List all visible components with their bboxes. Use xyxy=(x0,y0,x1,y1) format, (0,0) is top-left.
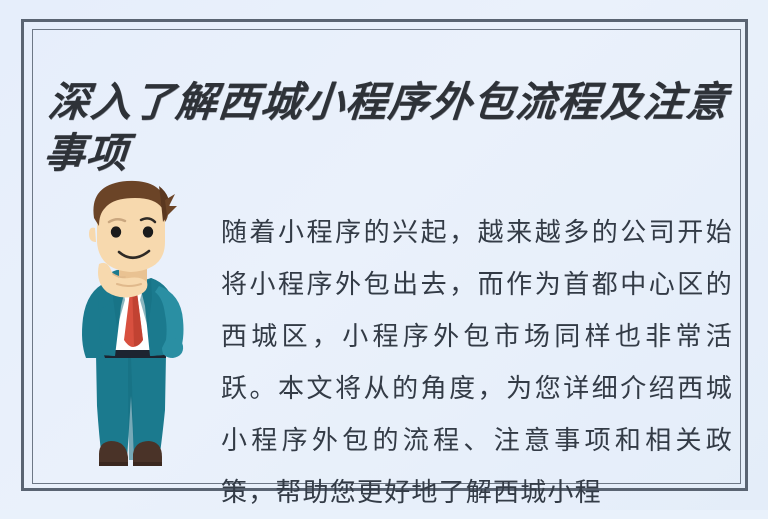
article-body: 随着小程序的兴起，越来越多的公司开始将小程序外包出去，而作为首都中心区的西城区，… xyxy=(221,207,733,519)
page-title: 深入了解西城小程序外包流程及注意事项 xyxy=(42,77,741,179)
thinking-businessman-illustration xyxy=(55,178,207,476)
article-poster: 深入了解西城小程序外包流程及注意事项 xyxy=(0,0,768,510)
